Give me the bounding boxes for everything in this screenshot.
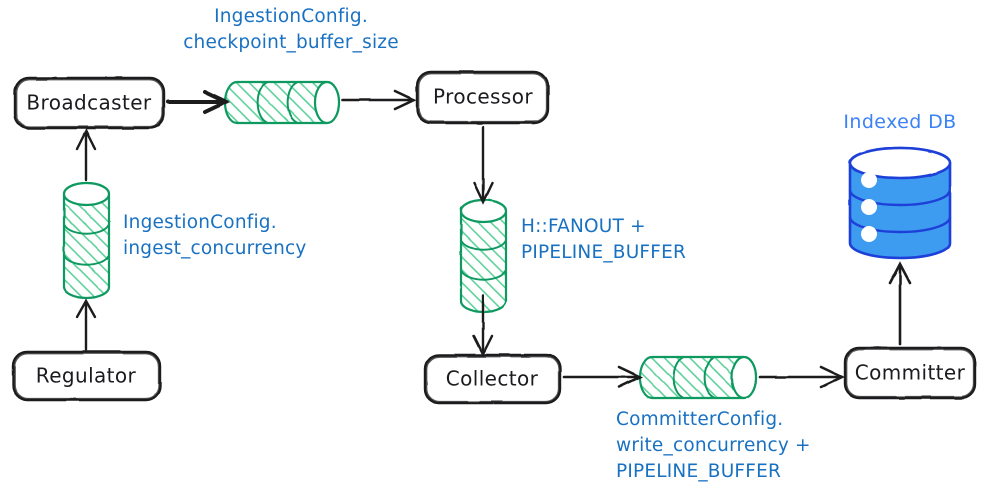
node-label-committer: Committer xyxy=(855,361,966,385)
annotation-checkpoint: IngestionConfig. checkpoint_buffer_size xyxy=(183,6,399,53)
diagram-text-layer: Broadcaster Processor Regulator Collecto… xyxy=(0,0,987,492)
annotation-ingest: IngestionConfig. ingest_concurrency xyxy=(123,212,307,259)
annotation-fanout-line-2: PIPELINE_BUFFER xyxy=(521,242,686,263)
annotation-write-line-2: write_concurrency + xyxy=(616,435,811,456)
annotation-write-line-3: PIPELINE_BUFFER xyxy=(616,461,781,482)
database-title: Indexed DB xyxy=(843,111,956,133)
annotation-ingest-line-2: ingest_concurrency xyxy=(123,238,307,259)
annotation-write: CommitterConfig. write_concurrency + PIP… xyxy=(616,409,811,482)
annotation-write-line-1: CommitterConfig. xyxy=(616,409,783,430)
annotation-checkpoint-line-2: checkpoint_buffer_size xyxy=(183,32,399,53)
annotation-fanout-line-1: H::FANOUT + xyxy=(521,216,646,237)
node-label-broadcaster: Broadcaster xyxy=(26,91,152,115)
node-label-regulator: Regulator xyxy=(36,364,137,388)
annotation-fanout: H::FANOUT + PIPELINE_BUFFER xyxy=(521,216,686,263)
node-label-processor: Processor xyxy=(433,85,533,109)
node-label-collector: Collector xyxy=(446,367,539,391)
diagram-canvas: Broadcaster Processor Regulator Collecto… xyxy=(0,0,987,492)
annotation-ingest-line-1: IngestionConfig. xyxy=(123,212,277,233)
annotation-checkpoint-line-1: IngestionConfig. xyxy=(214,6,368,27)
